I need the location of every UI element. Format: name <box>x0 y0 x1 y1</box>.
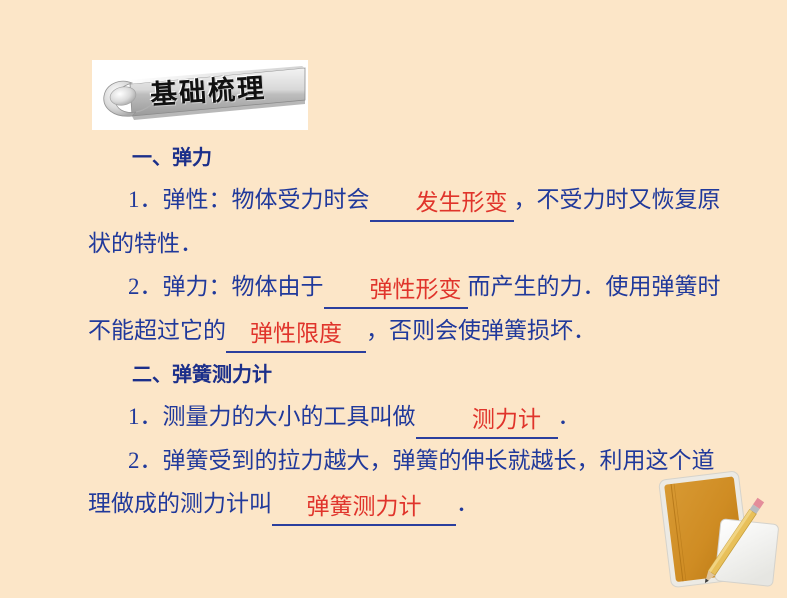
item1-tail-text: ，不受力时又恢复原 <box>514 187 721 212</box>
section-banner <box>92 60 308 130</box>
section2-item1-line1: 1．测量力的大小的工具叫做测力计． <box>88 395 766 439</box>
section1-item1-line2: 状的特性． <box>88 222 766 265</box>
item2-tail-text: 而产生的力．使用弹簧时 <box>468 274 721 299</box>
item3-lead-text: 1．测量力的大小的工具叫做 <box>128 404 416 429</box>
item2-cont-tail-text: ，否则会使弹簧损坏． <box>366 318 596 343</box>
notebook-pencil-icon <box>655 470 787 598</box>
item2-lead-text: 2．弹力：物体由于 <box>128 274 324 299</box>
answer-blank-5[interactable]: 弹簧测力计 <box>272 491 456 526</box>
section-heading-1: 一、弹力 <box>88 136 766 178</box>
answer-blank-3[interactable]: 弹性限度 <box>226 318 366 353</box>
answer-blank-2[interactable]: 弹性形变 <box>324 274 468 309</box>
item1-lead-text: 1．弹性：物体受力时会 <box>128 187 370 212</box>
answer-blank-1[interactable]: 发生形变 <box>370 187 514 222</box>
item2-cont-lead-text: 不能超过它的 <box>88 318 226 343</box>
section1-item2-line2: 不能超过它的弹性限度，否则会使弹簧损坏． <box>88 309 766 353</box>
section1-item2-line1: 2．弹力：物体由于弹性形变而产生的力．使用弹簧时 <box>88 265 766 309</box>
slide-canvas: 基础梳理 一、弹力 1．弹性：物体受力时会发生形变，不受力时又恢复原 状的特性．… <box>0 0 787 598</box>
answer-blank-4[interactable]: 测力计 <box>416 404 558 439</box>
section1-item1-line1: 1．弹性：物体受力时会发生形变，不受力时又恢复原 <box>88 178 766 222</box>
slide-body: 一、弹力 1．弹性：物体受力时会发生形变，不受力时又恢复原 状的特性． 2．弹力… <box>88 136 766 526</box>
item3-tail-text: ． <box>558 404 581 429</box>
item4-cont-lead-text: 理做成的测力计叫 <box>88 491 272 516</box>
item4-cont-tail-text: ． <box>456 491 479 516</box>
section-heading-2: 二、弹簧测力计 <box>88 353 766 395</box>
